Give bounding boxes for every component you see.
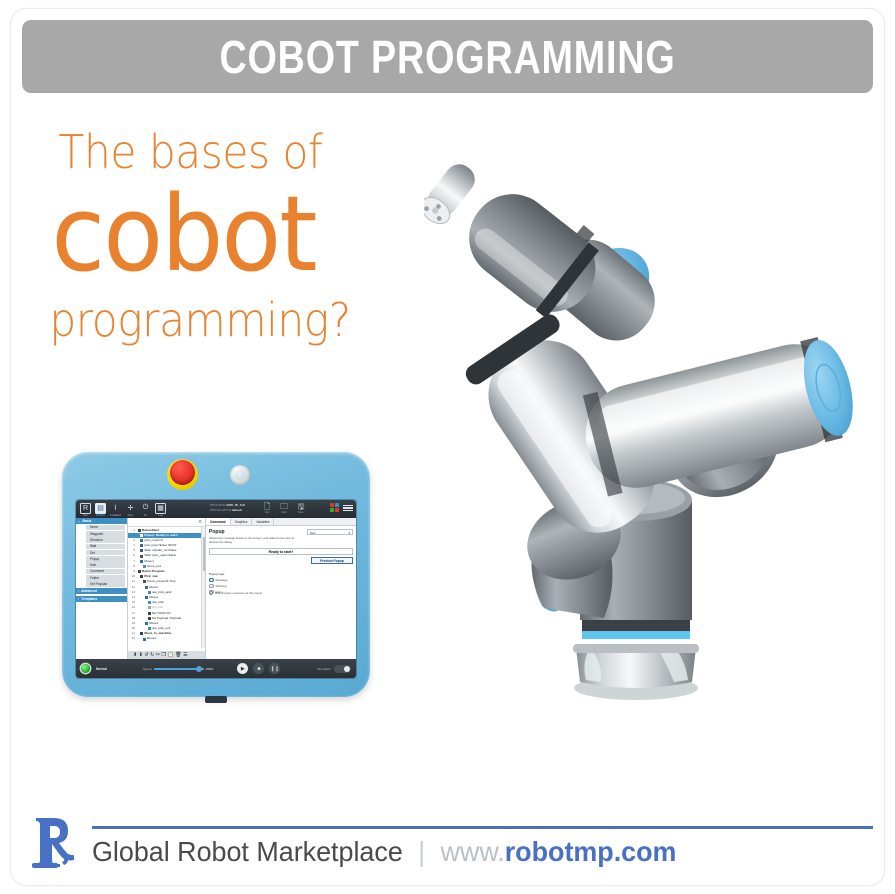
run-icon: R	[80, 503, 91, 514]
speed-label: Speed	[143, 667, 152, 671]
redo-icon[interactable]: ↻	[150, 652, 154, 658]
chevron-down-icon: ⌄	[78, 519, 81, 523]
program-tree-scrollbar[interactable]	[201, 527, 205, 648]
chevron-right-icon: ›	[78, 589, 79, 593]
page-title: COBOT PROGRAMMING	[99, 30, 797, 84]
program-tree-toolbar: ⬆ ⬇ ↺ ↻ ✂ ❐ 📋 🗑 ☰	[128, 651, 205, 659]
row-type-icon	[138, 529, 141, 532]
headline-block: The bases of cobot programming?	[42, 128, 432, 345]
playback-controls: ▶ ■ ❙❙	[237, 663, 280, 674]
row-type-icon	[143, 580, 146, 583]
ur-body: ⌄ Basic Move Waypoint Direction Wait Set…	[76, 518, 356, 659]
row-type-icon	[140, 539, 143, 542]
play-icon[interactable]: ▶	[237, 663, 248, 674]
sidebar-item-halt[interactable]: Halt	[86, 562, 125, 568]
row-type-icon	[148, 606, 151, 609]
program-value: 3300_55_7xU	[226, 503, 245, 507]
sidebar-group-basic-label: Basic	[83, 519, 92, 523]
footer-content: Global Robot Marketplace | www.robotmp.c…	[92, 818, 873, 868]
cut-icon[interactable]: ✂	[156, 652, 160, 658]
speed-slider[interactable]	[154, 668, 204, 670]
row-type-icon	[140, 560, 143, 563]
save-button[interactable]: 🖫Save	[296, 502, 306, 515]
move-up-icon[interactable]: ⬆	[133, 652, 137, 658]
row-type-icon	[140, 575, 143, 578]
installation-value: default	[232, 508, 242, 512]
toolbar-move-label: Move	[124, 514, 137, 517]
radio-warning[interactable]: Warning	[209, 584, 353, 589]
footer-url-domain: robotmp.com	[505, 836, 677, 867]
robotmp-logo-icon	[26, 814, 84, 872]
simulation-toggle-group[interactable]: Simulation	[317, 665, 351, 673]
copy-icon[interactable]: ❐	[162, 652, 166, 658]
move-icon: ✛	[125, 503, 136, 514]
chevron-right-icon-2: ›	[78, 597, 79, 601]
toolbar-io-label: I/O	[139, 514, 152, 517]
radio-warning-label: Warning	[216, 584, 227, 588]
program-info: PROGRAM 3300_55_7xU INSTALLATION default	[210, 503, 245, 512]
toolbar-log-label: Log	[154, 514, 167, 517]
new-file-label: New	[262, 512, 272, 515]
halt-execution-label: Halt program execution at this popup	[215, 591, 262, 595]
status-bar: Normal Speed 100% ▶ ■ ❙❙ Simulation	[76, 659, 356, 678]
open-folder-button[interactable]: 🗀Open	[279, 502, 289, 515]
row-type-icon	[145, 586, 148, 589]
program-label: PROGRAM	[210, 503, 226, 507]
row-type-icon	[140, 632, 143, 635]
power-button[interactable]	[230, 465, 250, 485]
paste-icon[interactable]: 📋	[168, 652, 174, 658]
toolbar-run[interactable]: R Run	[79, 502, 92, 517]
row-type-icon	[145, 596, 148, 599]
poster-page: COBOT PROGRAMMING The bases of cobot pro…	[0, 0, 895, 894]
undo-icon[interactable]: ↺	[144, 652, 148, 658]
stop-icon[interactable]: ■	[253, 663, 264, 674]
installation-label: INSTALLATION	[210, 508, 231, 512]
toolbar-io[interactable]: ⏻ I/O	[139, 502, 152, 517]
preview-popup-button[interactable]: Preview Popup	[311, 557, 353, 564]
row-type-icon	[145, 622, 148, 625]
command-panel: Command Graphics Variables Text ▾ Popup …	[206, 518, 356, 659]
tab-command[interactable]: Command	[206, 518, 231, 525]
header-banner: COBOT PROGRAMMING	[22, 20, 873, 93]
pause-icon[interactable]: ❙❙	[269, 663, 280, 674]
sidebar-item-comment[interactable]: Comment	[86, 569, 125, 575]
headline-line-1: The bases of	[42, 128, 401, 176]
file-buttons: 🗋New 🗀Open 🖫Save	[262, 502, 306, 515]
sidebar-item-set-payload[interactable]: Set Payload	[86, 581, 125, 587]
toolbar-program[interactable]: ▤ Program	[94, 502, 107, 517]
simulation-toggle[interactable]	[334, 665, 351, 673]
row-type-icon	[143, 638, 146, 641]
row-type-icon	[148, 601, 151, 604]
ur-toolbar: R Run ▤ Program ⌇ Installation ✛ Move	[76, 500, 356, 518]
footer-url-prefix: www.	[440, 836, 504, 867]
footer-divider-rule	[92, 826, 873, 829]
footer-tagline: Global Robot Marketplace	[92, 836, 403, 868]
chevron-down-icon-select: ▾	[348, 530, 350, 536]
sidebar-item-direction[interactable]: Direction	[86, 537, 125, 543]
row-type-icon	[138, 570, 141, 573]
footer-url[interactable]: www.robotmp.com	[440, 836, 676, 868]
search-icon[interactable]: ⌕	[128, 518, 205, 527]
panel-description: Shows the message below on the screen, a…	[209, 536, 301, 544]
pendant-screen: R Run ▤ Program ⌇ Installation ✛ Move	[76, 500, 356, 678]
row-type-icon	[140, 534, 143, 537]
radio-message[interactable]: Message	[209, 578, 353, 583]
panel-tabs: Command Graphics Variables	[206, 518, 356, 526]
row-type-icon	[148, 617, 151, 620]
program-tree-row[interactable]: 22MoveJ	[128, 636, 205, 641]
move-down-icon[interactable]: ⬇	[139, 652, 143, 658]
open-folder-label: Open	[279, 512, 289, 515]
radio-warning-dot	[209, 584, 214, 589]
sidebar-group-templates[interactable]: › Templates	[76, 596, 127, 602]
toolbar-move[interactable]: ✛ Move	[124, 502, 137, 517]
command-sidebar: ⌄ Basic Move Waypoint Direction Wait Set…	[76, 518, 128, 659]
speed-slider-knob[interactable]	[196, 666, 202, 672]
program-tree: ⌕ 1BeforeStart2Popup: Ready to start?3pa…	[128, 518, 206, 659]
new-file-button[interactable]: 🗋New	[262, 502, 272, 515]
sidebar-item-set[interactable]: Set	[86, 550, 125, 556]
row-type-icon	[140, 555, 143, 558]
sidebar-item-move[interactable]: Move	[86, 525, 125, 531]
toolbar-installation-label: Installation	[109, 514, 122, 517]
panel-content: Text ▾ Popup Shows the message below on …	[206, 526, 356, 597]
robot-arm-image	[424, 148, 874, 713]
simulation-label: Simulation	[317, 667, 331, 671]
suppress-icon[interactable]: ☰	[183, 652, 187, 658]
radio-message-label: Message	[216, 578, 228, 582]
robot-state: Normal	[96, 667, 107, 671]
emergency-stop-button[interactable]	[167, 459, 198, 490]
tab-graphics[interactable]: Graphics	[231, 518, 253, 525]
sidebar-item-wait[interactable]: Wait	[86, 544, 125, 550]
popup-format-select[interactable]: Text ▾	[307, 529, 353, 535]
hamburger-menu-icon[interactable]	[343, 503, 353, 513]
io-icon: ⏻	[140, 503, 151, 514]
popup-message-input[interactable]: Ready to start?	[209, 548, 353, 555]
sidebar-group-basic[interactable]: ⌄ Basic	[76, 518, 127, 524]
toolbar-installation[interactable]: ⌇ Installation	[109, 502, 122, 517]
headline-line-2: cobot	[42, 176, 409, 292]
tab-variables[interactable]: Variables	[252, 518, 274, 525]
sidebar-group-advanced-label: Advanced	[81, 589, 97, 593]
popup-type-label: Popup type:	[209, 572, 353, 576]
pendant-stand	[205, 696, 227, 703]
teach-pendant: R Run ▤ Program ⌇ Installation ✛ Move	[62, 452, 370, 697]
footer-text-row: Global Robot Marketplace | www.robotmp.c…	[92, 836, 842, 868]
headline-line-3: programming?	[42, 295, 401, 346]
status-leds	[330, 503, 339, 512]
toolbar-program-label: Program	[94, 514, 107, 517]
sidebar-item-waypoint[interactable]: Waypoint	[86, 531, 125, 537]
row-type-icon	[148, 627, 151, 630]
radio-message-dot	[209, 578, 214, 583]
row-type-icon	[140, 544, 143, 547]
row-type-icon	[148, 591, 151, 594]
checkbox-icon	[209, 591, 213, 595]
row-type-icon	[140, 549, 143, 552]
program-icon: ▤	[95, 503, 106, 514]
toolbar-log[interactable]: ▦ Log	[154, 502, 167, 517]
row-number: 22	[129, 636, 135, 641]
row-type-icon	[148, 612, 151, 615]
log-icon: ▦	[155, 503, 166, 514]
save-label: Save	[296, 512, 306, 515]
ur-toolbar-icons: R Run ▤ Program ⌇ Installation ✛ Move	[79, 502, 167, 517]
speed-value: 100%	[206, 667, 214, 671]
row-type-icon	[143, 565, 146, 568]
toolbar-run-label: Run	[79, 514, 92, 517]
halt-execution-checkbox[interactable]: Halt program execution at this popup	[209, 591, 262, 595]
sidebar-item-folder[interactable]: Folder	[86, 575, 125, 581]
status-led-icon	[81, 664, 90, 673]
toolbar-right	[330, 503, 353, 513]
sidebar-group-advanced[interactable]: › Advanced	[76, 588, 127, 594]
installation-icon: ⌇	[110, 503, 121, 514]
sidebar-item-popup[interactable]: Popup	[86, 556, 125, 562]
row-label: MoveJ	[147, 636, 156, 641]
delete-icon[interactable]: 🗑	[175, 652, 181, 658]
footer: Global Robot Marketplace | www.robotmp.c…	[22, 808, 873, 878]
footer-separator: |	[418, 836, 425, 868]
sidebar-group-templates-label: Templates	[81, 597, 97, 601]
program-tree-rows[interactable]: 1BeforeStart2Popup: Ready to start?3part…	[128, 527, 205, 648]
popup-format-value: Text	[310, 531, 316, 535]
speed-control[interactable]: Speed 100%	[143, 667, 213, 671]
